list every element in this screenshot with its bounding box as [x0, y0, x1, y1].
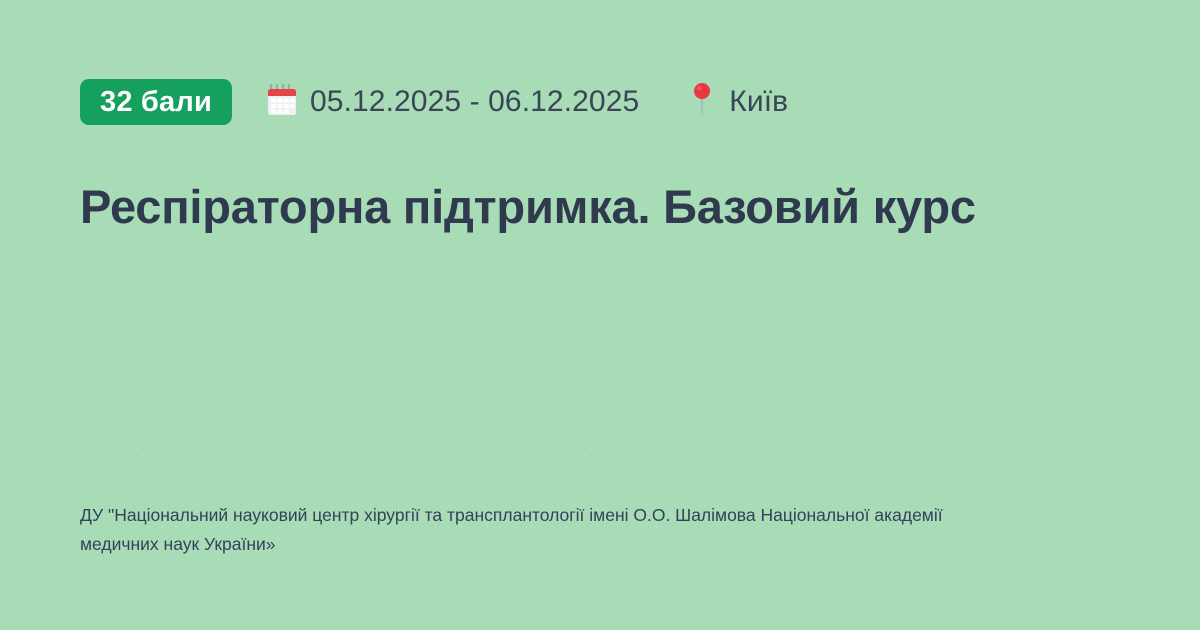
organizer-text: ДУ "Національний науковий центр хірургії… — [80, 501, 960, 558]
event-title: Респіраторна підтримка. Базовий курс — [80, 178, 1040, 235]
event-city: Київ — [729, 85, 788, 119]
event-date-range: 05.12.2025 - 06.12.2025 — [310, 85, 639, 119]
event-dates: 05.12.2025 - 06.12.2025 — [266, 83, 639, 122]
credit-points-badge: 32 бали — [80, 79, 232, 125]
card-content: 32 бали — [0, 0, 1200, 630]
event-meta-row: 32 бали — [80, 78, 788, 126]
map-pin-icon — [691, 82, 713, 123]
event-location: Київ — [691, 82, 788, 123]
event-card: 32 бали — [0, 0, 1200, 630]
calendar-icon — [266, 83, 298, 122]
